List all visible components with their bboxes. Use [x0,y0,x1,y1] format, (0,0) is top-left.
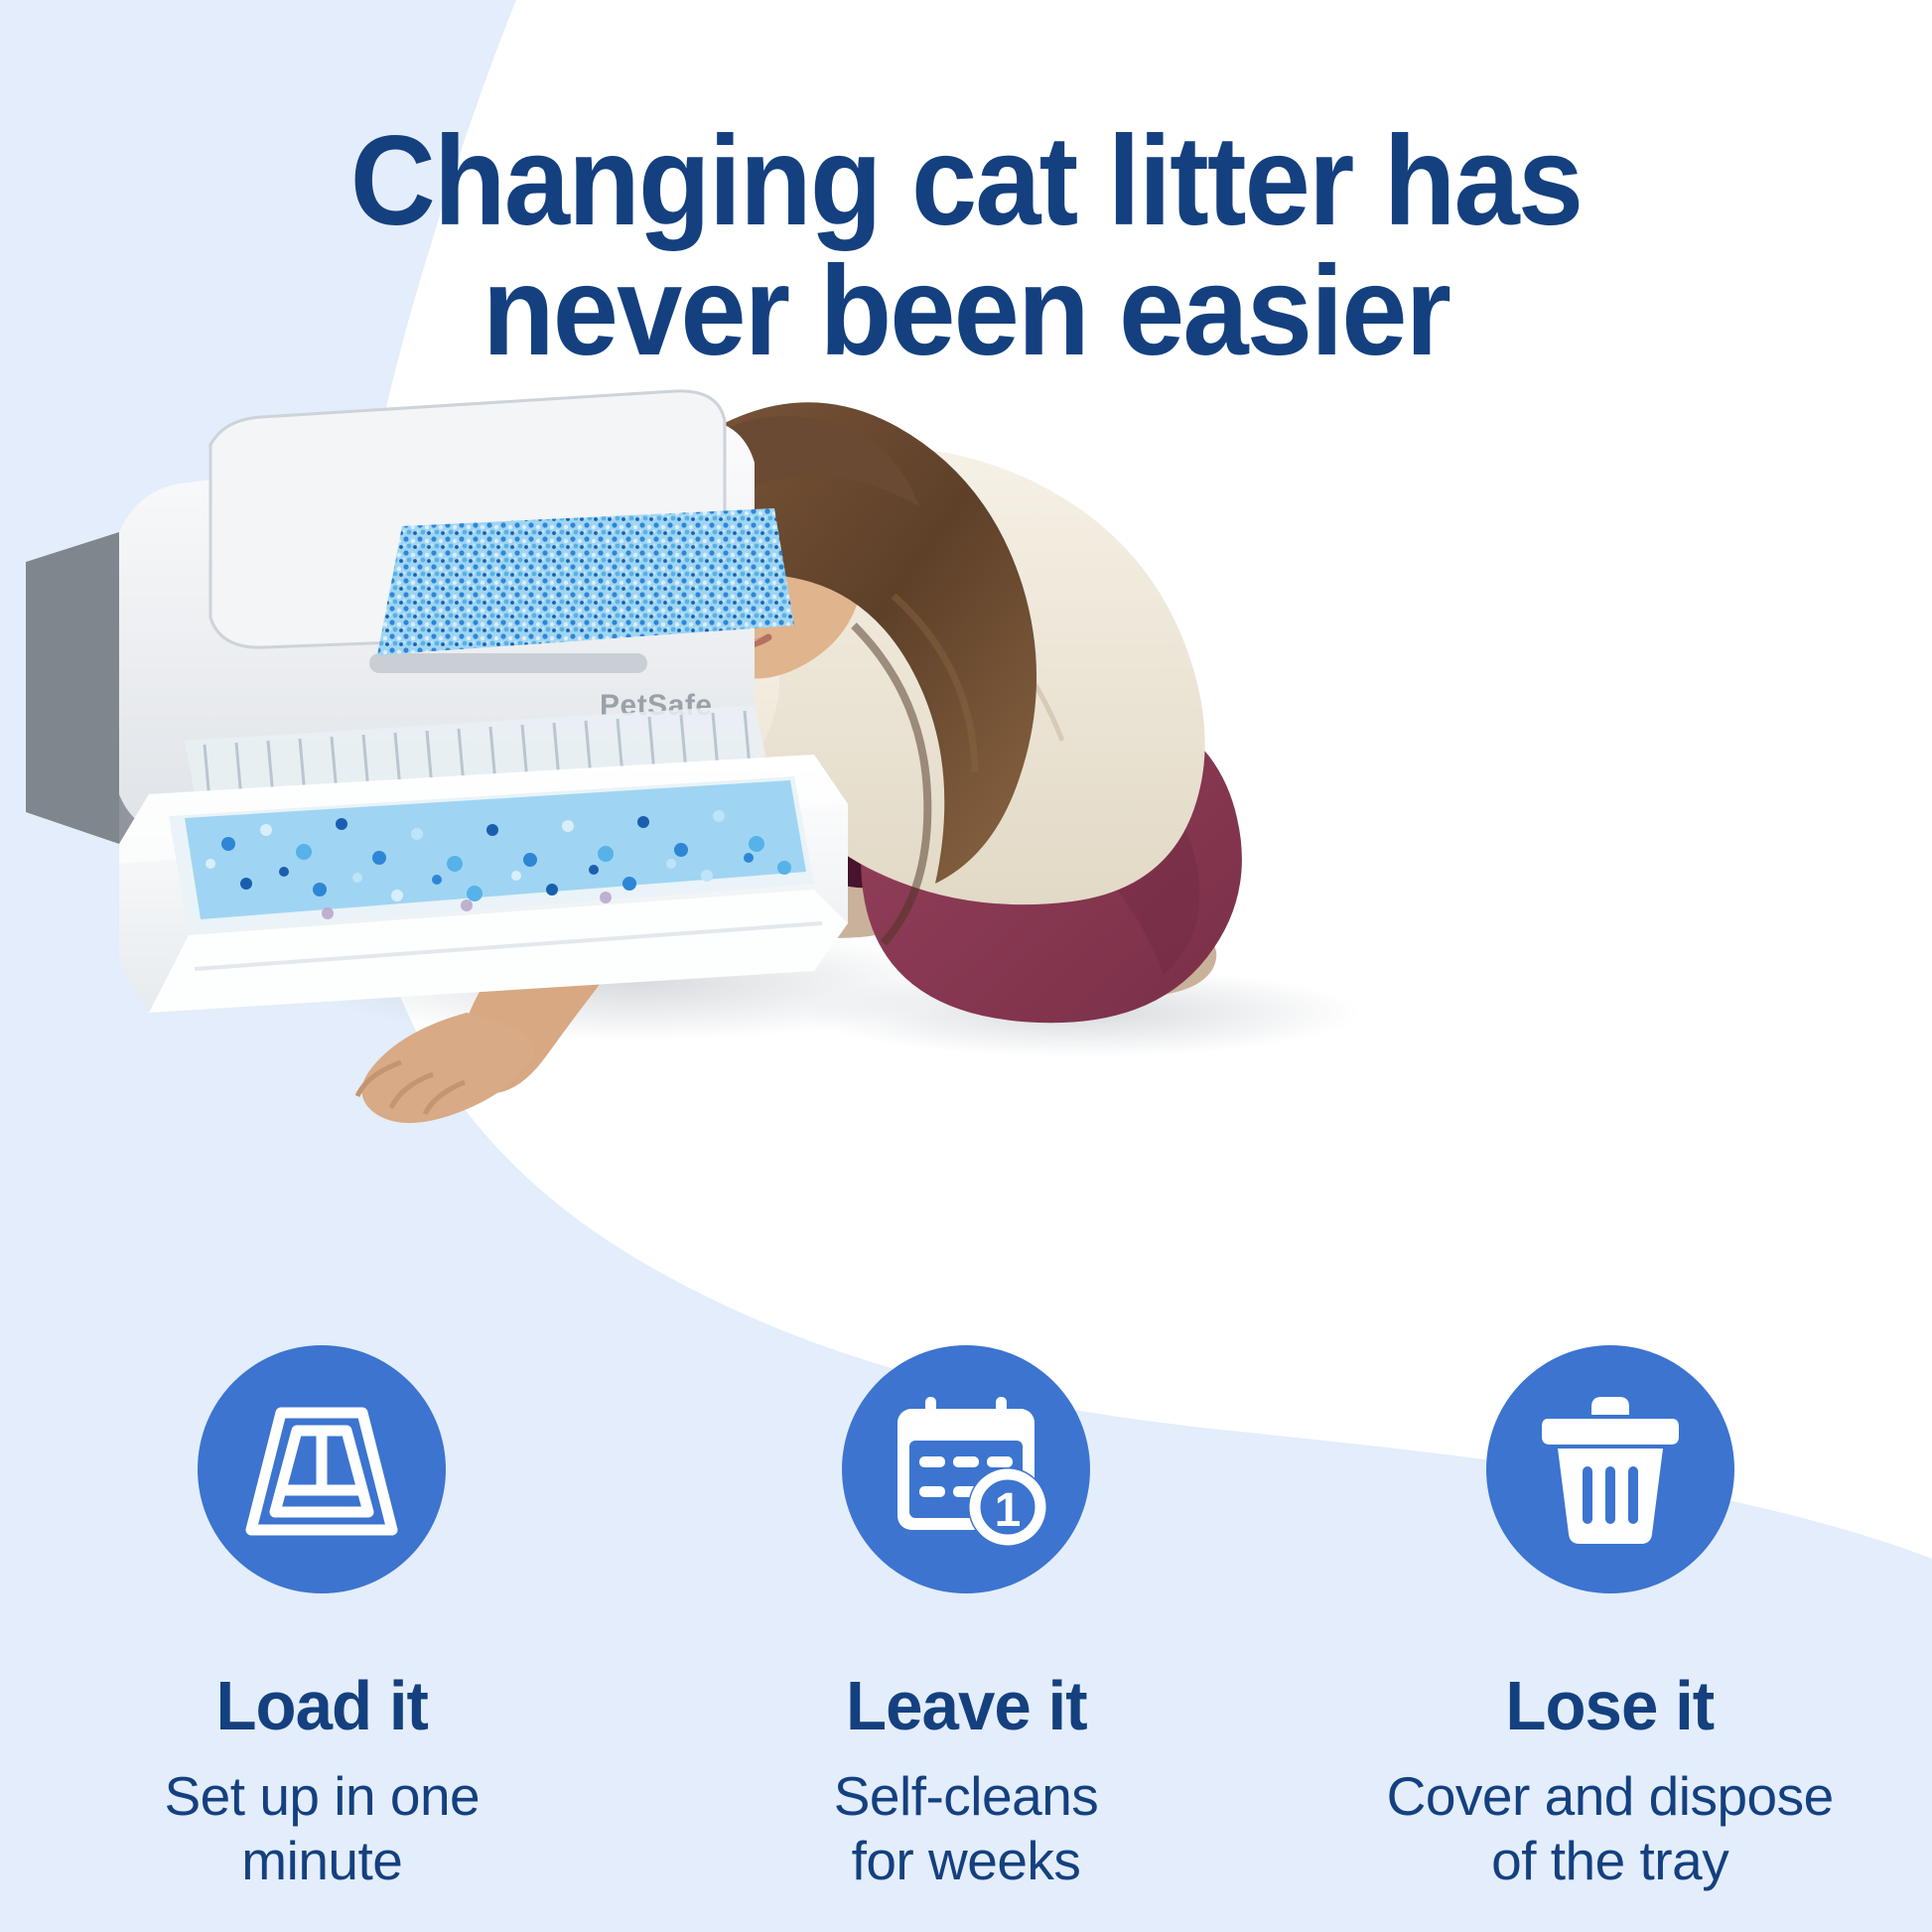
hood-left-panel [26,532,119,844]
feature-title: Leave it [846,1671,1087,1740]
features-row: Load it Set up in one minute [0,1345,1932,1893]
calendar-one-icon[interactable]: 1 [842,1345,1090,1593]
feature-lose-it[interactable]: Lose it Cover and dispose of the tray [1288,1345,1932,1893]
litter-tray-icon[interactable] [198,1345,446,1593]
feature-title: Lose it [1506,1671,1715,1740]
trash-can-icon[interactable] [1486,1345,1734,1593]
page-headline: Changing cat litter has never been easie… [68,117,1864,376]
feature-description: Set up in one minute [165,1764,481,1893]
feature-title: Load it [216,1671,429,1740]
headline-line-1: Changing cat litter has [350,110,1582,252]
hero-photo: PetSafe [0,328,1932,1320]
feature-desc-line-1: Set up in one [165,1765,481,1827]
feature-desc-line-2: for weeks [852,1830,1081,1891]
feature-desc-line-1: Self-cleans [834,1765,1099,1827]
headline-line-2: never been easier [68,247,1864,377]
calendar-badge-number: 1 [995,1484,1022,1537]
hood-vent [369,653,647,673]
feature-leave-it[interactable]: 1 Leave it Self-cleans for weeks [644,1345,1289,1893]
feature-description: Cover and dispose of the tray [1387,1764,1834,1893]
feature-load-it[interactable]: Load it Set up in one minute [0,1345,644,1893]
feature-description: Self-cleans for weeks [834,1764,1099,1893]
feature-desc-line-1: Cover and dispose [1387,1765,1834,1827]
litter-box-product: PetSafe [26,391,848,1013]
feature-desc-line-2: minute [241,1830,402,1891]
hand-on-tray [357,1013,535,1123]
feature-desc-line-2: of the tray [1491,1830,1728,1891]
infographic-canvas: Changing cat litter has never been easie… [0,0,1932,1932]
